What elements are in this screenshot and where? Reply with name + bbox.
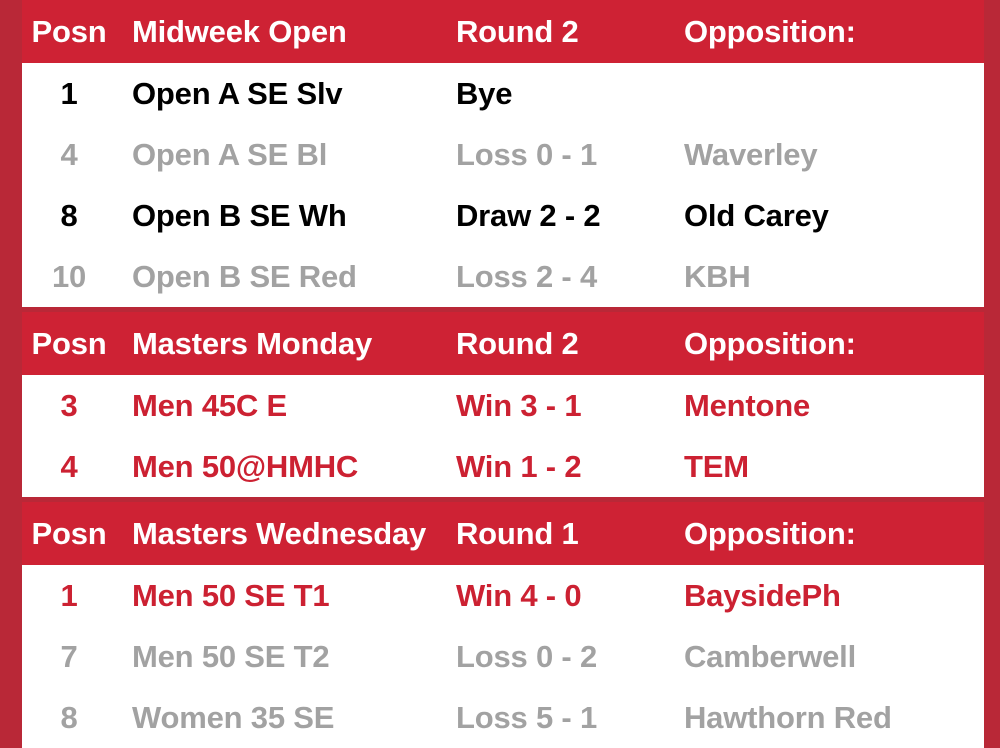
section-body: 1Open A SE SlvBye4Open A SE BlLoss 0 - 1… bbox=[22, 63, 984, 307]
section-header-row: PosnMasters WednesdayRound 1Opposition: bbox=[22, 502, 984, 565]
row-team-name: Men 50@HMHC bbox=[116, 449, 456, 485]
row-team-name: Open B SE Red bbox=[116, 259, 456, 295]
row-opposition: Hawthorn Red bbox=[684, 700, 984, 736]
row-result: Loss 2 - 4 bbox=[456, 259, 684, 295]
row-team-name: Open B SE Wh bbox=[116, 198, 456, 234]
row-opposition: Mentone bbox=[684, 388, 984, 424]
row-team-name: Open A SE Bl bbox=[116, 137, 456, 173]
table-row[interactable]: 8Women 35 SELoss 5 - 1Hawthorn Red bbox=[22, 687, 984, 748]
header-opposition-label: Opposition: bbox=[684, 516, 984, 552]
header-posn-label: Posn bbox=[22, 14, 116, 50]
row-opposition: BaysidePh bbox=[684, 578, 984, 614]
results-board: PosnMidweek OpenRound 2Opposition:1Open … bbox=[0, 0, 1000, 746]
results-section: PosnMasters MondayRound 2Opposition:3Men… bbox=[22, 312, 984, 497]
row-result: Draw 2 - 2 bbox=[456, 198, 684, 234]
row-position: 8 bbox=[22, 700, 116, 736]
row-team-name: Women 35 SE bbox=[116, 700, 456, 736]
section-body: 3Men 45C EWin 3 - 1Mentone4Men 50@HMHCWi… bbox=[22, 375, 984, 497]
row-result: Win 3 - 1 bbox=[456, 388, 684, 424]
row-position: 1 bbox=[22, 76, 116, 112]
row-opposition: KBH bbox=[684, 259, 984, 295]
row-position: 4 bbox=[22, 449, 116, 485]
table-row[interactable]: 10Open B SE RedLoss 2 - 4KBH bbox=[22, 246, 984, 307]
header-posn-label: Posn bbox=[22, 516, 116, 552]
row-position: 8 bbox=[22, 198, 116, 234]
row-result: Loss 0 - 2 bbox=[456, 639, 684, 675]
row-position: 1 bbox=[22, 578, 116, 614]
section-body: 1Men 50 SE T1Win 4 - 0BaysidePh7Men 50 S… bbox=[22, 565, 984, 748]
results-section: PosnMidweek OpenRound 2Opposition:1Open … bbox=[22, 0, 984, 307]
row-result: Bye bbox=[456, 76, 684, 112]
header-posn-label: Posn bbox=[22, 326, 116, 362]
table-row[interactable]: 3Men 45C EWin 3 - 1Mentone bbox=[22, 375, 984, 436]
row-team-name: Men 50 SE T2 bbox=[116, 639, 456, 675]
row-opposition: Camberwell bbox=[684, 639, 984, 675]
row-position: 7 bbox=[22, 639, 116, 675]
row-opposition: Old Carey bbox=[684, 198, 984, 234]
row-team-name: Open A SE Slv bbox=[116, 76, 456, 112]
row-team-name: Men 50 SE T1 bbox=[116, 578, 456, 614]
row-position: 4 bbox=[22, 137, 116, 173]
row-result: Loss 0 - 1 bbox=[456, 137, 684, 173]
table-row[interactable]: 1Men 50 SE T1Win 4 - 0BaysidePh bbox=[22, 565, 984, 626]
section-header-row: PosnMasters MondayRound 2Opposition: bbox=[22, 312, 984, 375]
header-competition-label: Masters Monday bbox=[116, 326, 456, 362]
table-row[interactable]: 7Men 50 SE T2Loss 0 - 2Camberwell bbox=[22, 626, 984, 687]
header-round-label: Round 2 bbox=[456, 326, 684, 362]
results-section: PosnMasters WednesdayRound 1Opposition:1… bbox=[22, 502, 984, 748]
row-team-name: Men 45C E bbox=[116, 388, 456, 424]
section-header-row: PosnMidweek OpenRound 2Opposition: bbox=[22, 0, 984, 63]
header-opposition-label: Opposition: bbox=[684, 14, 984, 50]
row-position: 3 bbox=[22, 388, 116, 424]
table-row[interactable]: 4Men 50@HMHCWin 1 - 2TEM bbox=[22, 436, 984, 497]
row-opposition: TEM bbox=[684, 449, 984, 485]
row-opposition: Waverley bbox=[684, 137, 984, 173]
row-result: Win 1 - 2 bbox=[456, 449, 684, 485]
table-row[interactable]: 4Open A SE BlLoss 0 - 1Waverley bbox=[22, 124, 984, 185]
table-row[interactable]: 8Open B SE WhDraw 2 - 2Old Carey bbox=[22, 185, 984, 246]
row-position: 10 bbox=[22, 259, 116, 295]
header-competition-label: Masters Wednesday bbox=[116, 516, 456, 552]
header-round-label: Round 2 bbox=[456, 14, 684, 50]
row-result: Loss 5 - 1 bbox=[456, 700, 684, 736]
header-opposition-label: Opposition: bbox=[684, 326, 984, 362]
row-result: Win 4 - 0 bbox=[456, 578, 684, 614]
table-row[interactable]: 1Open A SE SlvBye bbox=[22, 63, 984, 124]
header-competition-label: Midweek Open bbox=[116, 14, 456, 50]
header-round-label: Round 1 bbox=[456, 516, 684, 552]
sections-container: PosnMidweek OpenRound 2Opposition:1Open … bbox=[22, 0, 984, 748]
